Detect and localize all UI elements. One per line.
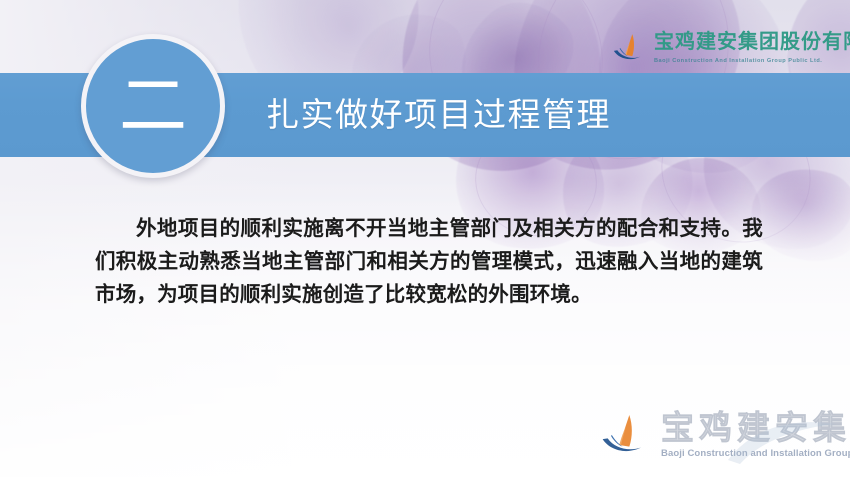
footer-company-name-en: Baoji Construction and Installation Grou… bbox=[661, 448, 850, 460]
body-paragraph: 外地项目的顺利实施离不开当地主管部门及相关方的配合和支持。我们积极主动熟悉当地主… bbox=[95, 212, 763, 311]
header-company-name-cn: 宝鸡建安集团股份有限公司 bbox=[654, 31, 850, 53]
presentation-slide: 二 扎实做好项目过程管理 宝鸡建安集团股份有限公司 Baoji Construc… bbox=[0, 0, 850, 477]
header-logo-text: 宝鸡建安集团股份有限公司 Baoji Construction And Inst… bbox=[654, 31, 850, 65]
header-company-name-en: Baoji Construction And Installation Grou… bbox=[654, 57, 850, 65]
section-title: 扎实做好项目过程管理 bbox=[266, 96, 611, 136]
section-number-label: 二 bbox=[119, 72, 187, 140]
footer-company-name-cn: 宝鸡建安集团 bbox=[661, 410, 850, 446]
header-company-logo: 宝鸡建安集团股份有限公司 Baoji Construction And Inst… bbox=[612, 31, 850, 65]
company-mark-icon bbox=[612, 33, 648, 63]
company-mark-icon bbox=[601, 413, 651, 457]
footer-logo-text: 宝鸡建安集团 Baoji Construction and Installati… bbox=[661, 410, 850, 460]
section-number-badge: 二 bbox=[81, 34, 225, 178]
footer-company-watermark: 宝鸡建安集团 Baoji Construction and Installati… bbox=[601, 410, 850, 460]
